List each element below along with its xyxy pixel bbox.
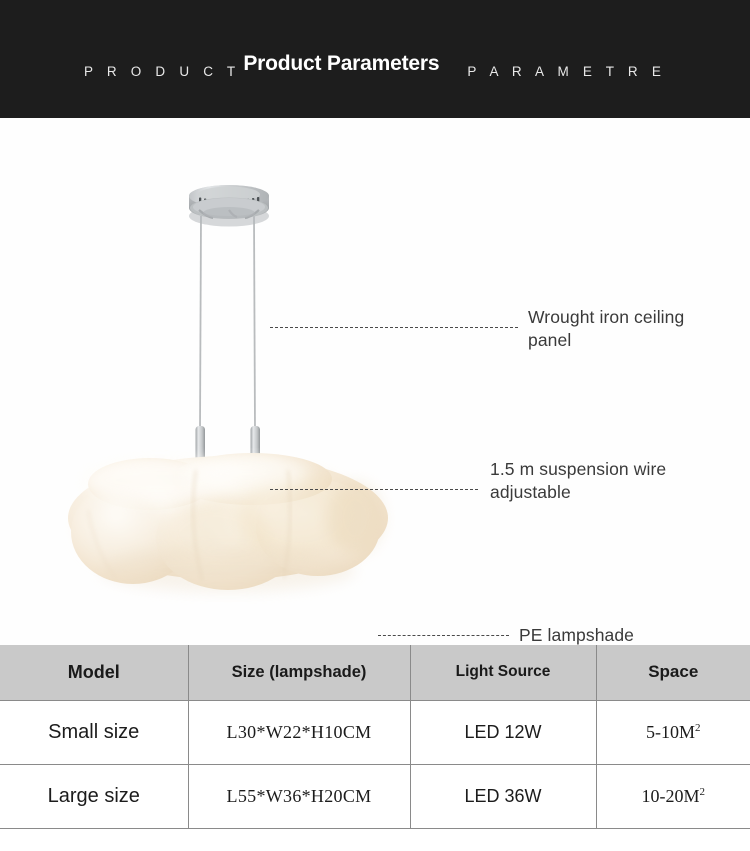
cell-size: L55*W36*H20CM — [188, 764, 410, 828]
suspension-wires — [195, 216, 260, 464]
annotation-line-1: Wrought iron ceiling — [528, 306, 738, 329]
annotation-suspension-wire: 1.5 m suspension wire adjustable — [490, 458, 740, 504]
column-header-space: Space — [596, 645, 750, 700]
product-photo-area: Wrought iron ceiling panel 1.5 m suspens… — [0, 118, 750, 645]
ceiling-canopy — [189, 185, 269, 227]
annotation-line-2: panel — [528, 329, 738, 352]
leader-line-canopy — [270, 327, 518, 328]
banner-text-group: P R O D U C T Product Parameters P A R A… — [0, 52, 750, 76]
table-header: Model Size (lampshade) Light Source Spac… — [0, 645, 750, 700]
cell-space-value: 5-10M — [646, 722, 695, 742]
annotation-line-1: PE lampshade — [519, 624, 719, 645]
cell-space-exponent: 2 — [700, 786, 706, 798]
column-header-size: Size (lampshade) — [188, 645, 410, 700]
leader-line-wire — [270, 489, 478, 490]
table-row: Small size L30*W22*H10CM LED 12W 5-10M2 — [0, 700, 750, 764]
specification-table: Model Size (lampshade) Light Source Spac… — [0, 645, 750, 829]
banner-subtitle-left: P R O D U C T — [84, 64, 240, 79]
table-body: Small size L30*W22*H10CM LED 12W 5-10M2 … — [0, 700, 750, 828]
cell-space-exponent: 2 — [695, 722, 701, 734]
table-header-row: Model Size (lampshade) Light Source Spac… — [0, 645, 750, 700]
table-row: Large size L55*W36*H20CM LED 36W 10-20M2 — [0, 764, 750, 828]
banner-subtitle-right: P A R A M E T R E — [467, 64, 666, 79]
cell-size: L30*W22*H10CM — [188, 700, 410, 764]
column-header-light-source: Light Source — [410, 645, 596, 700]
pendant-lamp-illustration — [0, 118, 750, 645]
cell-light-source: LED 36W — [410, 764, 596, 828]
cell-space-value: 10-20M — [642, 786, 700, 806]
cell-model: Small size — [0, 700, 188, 764]
cell-space: 5-10M2 — [596, 700, 750, 764]
annotation-wrought-iron-ceiling-panel: Wrought iron ceiling panel — [528, 306, 738, 352]
annotation-pe-lampshade: PE lampshade — [519, 624, 719, 645]
page-title: Product Parameters — [243, 52, 439, 76]
cell-space: 10-20M2 — [596, 764, 750, 828]
column-header-model: Model — [0, 645, 188, 700]
annotation-line-2: adjustable — [490, 481, 740, 504]
pe-lampshade — [68, 453, 388, 592]
annotation-line-1: 1.5 m suspension wire — [490, 458, 740, 481]
leader-line-shade — [378, 635, 509, 636]
cell-light-source: LED 12W — [410, 700, 596, 764]
cell-model: Large size — [0, 764, 188, 828]
page-header-banner: P R O D U C T Product Parameters P A R A… — [0, 0, 750, 118]
